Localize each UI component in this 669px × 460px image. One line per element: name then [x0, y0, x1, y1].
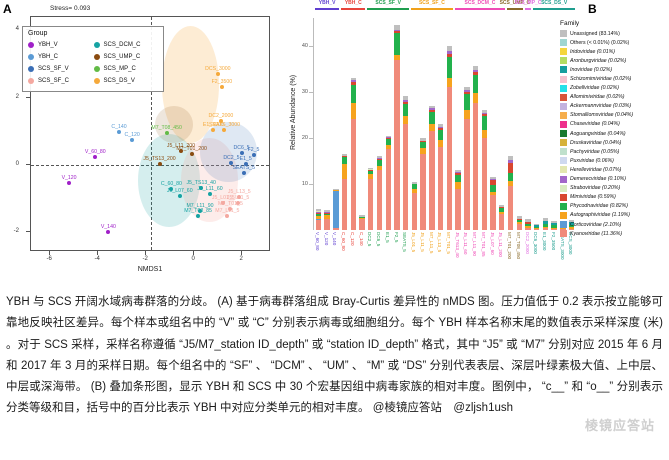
- bar-x-tick-label: F2_5: [394, 232, 399, 242]
- legend-swatch-icon: [560, 48, 567, 55]
- family-legend-item[interactable]: Ackermannviridae (0.03%): [560, 102, 668, 111]
- bar-segment: [490, 185, 495, 192]
- bar-segment: [333, 191, 338, 228]
- bar-x-tick-label: J5_L13_5: [437, 232, 442, 252]
- bar-x-tick-label: DC6_3000: [533, 232, 538, 254]
- panel-b: B Relative Abundance (%) 10203040 YBH_VY…: [292, 0, 669, 285]
- family-legend-label: Demerecviridae (0.10%): [570, 176, 626, 182]
- bar-segment: [429, 124, 434, 131]
- bar-segment: [508, 186, 513, 230]
- bar-x-tick-label: C_120: [350, 232, 355, 246]
- legend-swatch-icon: [560, 166, 567, 173]
- bar-segment: [473, 103, 478, 230]
- panel-b-y-tick: [309, 184, 313, 185]
- bar-segment: [455, 175, 460, 182]
- legend-swatch-icon: [560, 157, 567, 164]
- stacked-bar: [316, 209, 321, 230]
- nmds-point: [225, 214, 229, 218]
- stacked-bar: [499, 205, 504, 230]
- panel-b-y-tick-label: 40: [294, 43, 308, 49]
- stress-value: Stress= 0.093: [50, 5, 90, 12]
- bar-segment: [403, 116, 408, 124]
- family-legend-item[interactable]: Stomalliomsviridae (0.04%): [560, 111, 668, 120]
- panel-b-letter: B: [588, 2, 597, 16]
- bar-segment: [386, 149, 391, 230]
- family-legend-label: Mimiviridae (0.59%): [570, 194, 616, 200]
- legend-swatch-icon: [560, 176, 567, 183]
- legend-item-scs_dcm_c[interactable]: SCS_DCM_C: [94, 39, 160, 51]
- family-legend-item[interactable]: Allomimiviridae (0.02%): [560, 93, 668, 102]
- panel-a-x-tick-label: -6: [47, 256, 52, 262]
- bar-segment: [447, 57, 452, 78]
- panel-a-x-tick: [193, 251, 194, 255]
- stacked-bar: [543, 218, 548, 230]
- family-legend-label: Puxviridae (0.06%): [570, 158, 614, 164]
- bar-segment: [551, 229, 556, 230]
- legend-item-scs_mp_c[interactable]: SCS_MP_C: [94, 63, 160, 75]
- nmds-point: [117, 130, 121, 134]
- bar-segment: [473, 93, 478, 103]
- legend-item-label: SCS_MP_C: [104, 66, 136, 72]
- group-header-label: SCS_SF_C: [419, 0, 445, 6]
- stacked-bar: [359, 215, 364, 230]
- bar-segment: [351, 103, 356, 119]
- legend-swatch-icon: [560, 112, 567, 119]
- stacked-bar: [403, 96, 408, 230]
- nmds-point: [216, 72, 220, 76]
- panel-a-x-tick: [97, 251, 98, 255]
- legend-swatch-icon: [560, 194, 567, 201]
- nmds-point: [222, 128, 226, 132]
- bar-segment: [403, 124, 408, 230]
- stacked-bar: [420, 138, 425, 230]
- nmds-point: [220, 85, 224, 89]
- stacked-bar: [342, 154, 347, 231]
- panel-a-y-tick-label: -2: [0, 228, 19, 234]
- bar-x-tick-label: M7_T08_450: [516, 232, 521, 259]
- legend-item-label: SCS_UMP_C: [104, 54, 141, 60]
- bar-segment: [438, 130, 443, 140]
- stacked-bar: [438, 124, 443, 230]
- bar-segment: [333, 228, 338, 230]
- stacked-bar: [482, 110, 487, 230]
- stacked-bar: [473, 66, 478, 230]
- bar-segment: [368, 179, 373, 230]
- legend-swatch-icon: [560, 203, 567, 210]
- family-legend-item[interactable]: Aronburgviridae (0.02%): [560, 56, 668, 65]
- stacked-bar: [551, 221, 556, 230]
- nmds-point: [252, 153, 256, 157]
- legend-swatch-icon: [560, 57, 567, 64]
- bar-segment: [482, 116, 487, 130]
- group-header-bar: [315, 8, 339, 10]
- nmds-point-label: F2_3500: [212, 79, 232, 85]
- nmds-point-label: C_120: [124, 132, 139, 138]
- family-legend-label: Inoviridae (0.02%): [570, 67, 612, 73]
- family-legend-item[interactable]: Autographiviridae (1.19%): [560, 211, 668, 220]
- nmds-point-label: M7_T08_85: [184, 208, 212, 214]
- bar-x-tick-label: M7_T01_5: [446, 232, 451, 254]
- family-legend-label: Aoguangviridae (0.04%): [570, 131, 626, 137]
- family-legend-label: Schizomimiviridae (0.02%): [570, 76, 631, 82]
- family-legend-label: Stomalliomsviridae (0.04%): [570, 112, 633, 118]
- legend-swatch-icon: [560, 30, 567, 37]
- nmds-point-label: M7_T01_200: [176, 146, 207, 152]
- family-legend-item[interactable]: Kyanoviridae (11.36%): [560, 229, 668, 238]
- nmds-point: [130, 138, 134, 142]
- stacked-bar: [534, 224, 539, 230]
- nmds-point: [106, 230, 110, 234]
- nmds-point-label: M7_T08_450: [151, 125, 182, 131]
- panel-b-y-tick: [309, 92, 313, 93]
- nmds-point-label: E1_5: [240, 156, 252, 162]
- bar-x-tick-label: J5_L01_5: [411, 232, 416, 252]
- nmds-point: [93, 155, 97, 159]
- nmds-point: [67, 181, 71, 185]
- legend-swatch-icon: [560, 148, 567, 155]
- family-legend-label: Druskaviridae (0.04%): [570, 140, 621, 146]
- panel-a-y-tick-label: 2: [0, 94, 19, 100]
- nmds-point: [190, 152, 194, 156]
- group-header-label: YBH_V: [319, 0, 336, 6]
- family-legend-item[interactable]: Chaseviridae (0.04%): [560, 120, 668, 129]
- bar-x-tick-label: V_140: [332, 232, 337, 245]
- bar-x-tick-label: J5_L11_200: [498, 232, 503, 257]
- legend-swatch-icon: [94, 42, 100, 48]
- panel-a-y-tick-label: 0: [0, 161, 19, 167]
- family-legend-item[interactable]: Phycodnaviridae (0.82%): [560, 202, 668, 211]
- bar-x-tick-label: C_60_80: [341, 232, 346, 251]
- bar-segment: [473, 75, 478, 93]
- nmds-point: [158, 162, 162, 166]
- bar-segment: [543, 228, 548, 230]
- stacked-bar: [429, 106, 434, 230]
- family-legend-label: Autographiviridae (1.19%): [570, 212, 630, 218]
- nmds-point-label: F2_5: [248, 147, 260, 153]
- legend-item-ybh_c[interactable]: YBH_C: [28, 51, 94, 63]
- legend-swatch-icon: [560, 103, 567, 110]
- family-legend-item[interactable]: Unassigned (83.14%): [560, 29, 668, 38]
- group-header-label: SCS_SF_V: [375, 0, 401, 6]
- bar-segment: [499, 214, 504, 230]
- family-legend-item[interactable]: Iridoviridae (0.01%): [560, 47, 668, 56]
- legend-swatch-icon: [560, 76, 567, 83]
- group-header-bar: [455, 8, 505, 10]
- bar-segment: [324, 219, 329, 230]
- caption-text: YBH 与 SCS 开阔水域病毒群落的分歧。 (A) 基于病毒群落组成 Bray…: [6, 292, 663, 420]
- bar-segment: [412, 193, 417, 230]
- family-legend-label: Chaseviridae (0.04%): [570, 121, 620, 127]
- legend-swatch-icon: [28, 42, 34, 48]
- stacked-bar: [464, 87, 469, 230]
- family-legend-item[interactable]: Pachyviridae (0.05%): [560, 147, 668, 156]
- bar-segment: [438, 140, 443, 147]
- legend-swatch-icon: [560, 212, 567, 219]
- family-legend-item[interactable]: Demerecviridae (0.10%): [560, 175, 668, 184]
- family-legend-item[interactable]: Aoguangviridae (0.04%): [560, 129, 668, 138]
- legend-item-scs_sf_v[interactable]: SCS_SF_V: [28, 63, 94, 75]
- group-header-label: YBH_C: [345, 0, 362, 6]
- nmds-point-label: M7_T01_5: [218, 201, 243, 207]
- bar-x-tick-label: E1_5: [385, 232, 390, 243]
- group-header-bar: [507, 8, 522, 10]
- nmds-point-label: DC2_5: [223, 155, 239, 161]
- panel-b-y-tick-label: 20: [294, 135, 308, 141]
- bar-segment: [534, 229, 539, 230]
- panel-a-x-tick: [241, 251, 242, 255]
- family-legend-item[interactable]: Others (< 0.01%) (0.02%): [560, 38, 668, 47]
- legend-item-label: YBH_V: [38, 42, 58, 48]
- legend-item-scs_ds_v[interactable]: SCS_DS_V: [94, 75, 160, 87]
- stacked-bar: [508, 156, 513, 230]
- panel-a-x-tick: [145, 251, 146, 255]
- panel-a-letter: A: [3, 2, 12, 16]
- bar-x-tick-label: M7_L11_5: [429, 232, 434, 253]
- bar-segment: [517, 224, 522, 230]
- stacked-bar: [412, 182, 417, 230]
- legend-swatch-icon: [560, 66, 567, 73]
- stacked-bar: [324, 210, 329, 230]
- family-legend-label: Ackermannviridae (0.03%): [570, 103, 631, 109]
- family-legend-label: Straboviridae (0.20%): [570, 185, 620, 191]
- nmds-point-label: J5_L07_60: [167, 188, 193, 194]
- stacked-bar: [517, 216, 522, 230]
- legend-swatch-icon: [28, 54, 34, 60]
- bar-x-tick-label: J5_L07_60: [490, 232, 495, 255]
- legend-item-ybh_v[interactable]: YBH_V: [28, 39, 94, 51]
- family-legend-label: Kyanoviridae (11.36%): [570, 231, 622, 237]
- nmds-point: [178, 194, 182, 198]
- panel-a-legend: Group YBH_VYBH_CSCS_SF_VSCS_SF_C SCS_DCM…: [22, 26, 164, 92]
- bar-x-tick-label: M7_T01_200: [507, 232, 512, 259]
- stacked-bar: [368, 168, 373, 230]
- legend-column-left: YBH_VYBH_CSCS_SF_VSCS_SF_C: [28, 39, 94, 87]
- family-legend-item[interactable]: Schizomimiviridae (0.02%): [560, 74, 668, 83]
- family-legend-label: Pachyviridae (0.05%): [570, 149, 619, 155]
- family-legend-item[interactable]: Straboviridae (0.20%): [560, 184, 668, 193]
- legend-swatch-icon: [560, 130, 567, 137]
- panel-b-y-tick: [309, 138, 313, 139]
- bar-segment: [438, 147, 443, 230]
- family-legend-item[interactable]: Herelleviridae (0.07%): [560, 165, 668, 174]
- stacked-bar: [490, 177, 495, 230]
- nmds-point-label: DCS_3000: [205, 66, 230, 72]
- bar-segment: [464, 110, 469, 119]
- family-legend-label: Iridoviridae (0.01%): [570, 49, 615, 55]
- panel-b-legend: Family Unassigned (83.14%)Others (< 0.01…: [560, 20, 668, 238]
- panel-b-legend-title: Family: [560, 20, 668, 27]
- bar-x-tick-label: M7_T01_85: [481, 232, 486, 257]
- bar-segment: [394, 33, 399, 55]
- nmds-point: [240, 151, 244, 155]
- bar-x-tick-label: DC2_5: [367, 232, 372, 246]
- bar-segment: [342, 179, 347, 230]
- bar-segment: [316, 220, 321, 230]
- panel-b-y-tick: [309, 46, 313, 47]
- family-legend-label: Others (< 0.01%) (0.02%): [570, 40, 629, 46]
- legend-swatch-icon: [560, 185, 567, 192]
- panel-a-x-tick-label: -2: [143, 256, 148, 262]
- nmds-point: [196, 214, 200, 218]
- bar-segment: [482, 138, 487, 230]
- stacked-bar: [455, 170, 460, 230]
- group-header-label: SCS_DCM_C: [465, 0, 496, 6]
- bar-segment: [455, 189, 460, 230]
- legend-swatch-icon: [94, 66, 100, 72]
- bar-segment: [351, 85, 356, 103]
- family-legend-label: Zobellviridae (0.02%): [570, 85, 619, 91]
- nmds-point-label: V_60_80: [85, 149, 106, 155]
- legend-item-label: SCS_DS_V: [104, 78, 135, 84]
- bar-segment: [447, 78, 452, 87]
- legend-swatch-icon: [28, 78, 34, 84]
- bar-segment: [429, 131, 434, 230]
- legend-swatch-icon: [94, 78, 100, 84]
- legend-swatch-icon: [560, 121, 567, 128]
- panel-b-y-tick-label: 30: [294, 89, 308, 95]
- panel-a: A Stress= 0.093 NMDS2 NMDS1 -2024-6-4-20…: [0, 0, 292, 285]
- panel-a-legend-title: Group: [28, 30, 159, 37]
- panel-a-x-tick-label: -4: [95, 256, 100, 262]
- panel-a-x-tick-label: 2: [240, 256, 243, 262]
- family-legend-label: Unassigned (83.14%): [570, 31, 620, 37]
- bar-segment: [351, 119, 356, 230]
- nmds-point-label: J5_TS13_200: [143, 156, 175, 162]
- bar-x-tick-label: V_60_80: [315, 232, 320, 250]
- stacked-bar: [394, 25, 399, 230]
- nmds-point-label: C_60_80: [161, 181, 182, 187]
- legend-column-right: SCS_DCM_CSCS_UMP_CSCS_MP_CSCS_DS_V: [94, 39, 160, 87]
- stacked-bar-chart: [314, 18, 576, 230]
- bar-segment: [508, 163, 513, 173]
- bar-x-tick-label: M7_L11_90: [472, 232, 477, 256]
- bar-segment: [420, 154, 425, 230]
- legend-item-scs_sf_c[interactable]: SCS_SF_C: [28, 75, 94, 87]
- legend-item-scs_ump_c[interactable]: SCS_UMP_C: [94, 51, 160, 63]
- stacked-bar: [447, 46, 452, 230]
- legend-item-label: SCS_DCM_C: [104, 42, 141, 48]
- bar-segment: [464, 94, 469, 110]
- bar-x-tick-label: DC6_5: [376, 232, 381, 246]
- bar-segment: [394, 60, 399, 231]
- group-header-bar: [341, 8, 365, 10]
- family-legend-item[interactable]: Mimiviridae (0.59%): [560, 193, 668, 202]
- bar-segment: [429, 112, 434, 124]
- legend-item-label: SCS_SF_C: [38, 78, 69, 84]
- legend-swatch-icon: [560, 94, 567, 101]
- nmds-point-label: V_140: [101, 224, 116, 230]
- family-legend-label: Corticoviridae (2.10%): [570, 222, 621, 228]
- nmds-point-label: DC2_2000: [209, 113, 234, 119]
- bar-x-tick-label: J5_L11_60: [463, 232, 468, 254]
- bar-x-tick-label: DC2_2000: [525, 232, 530, 254]
- bar-segment: [464, 119, 469, 230]
- legend-swatch-icon: [560, 39, 567, 46]
- figure: A Stress= 0.093 NMDS2 NMDS1 -2024-6-4-20…: [0, 0, 669, 285]
- bar-segment: [447, 87, 452, 230]
- group-header-label: SCS_MP_C: [514, 0, 541, 6]
- bar-segment: [342, 164, 347, 180]
- bar-segment: [482, 130, 487, 138]
- nmds-point: [242, 171, 246, 175]
- legend-item-label: YBH_C: [38, 54, 58, 60]
- stacked-bar: [333, 189, 338, 230]
- stacked-bar: [525, 219, 530, 230]
- nmds-point-label: C_140: [111, 124, 126, 130]
- family-legend-rows: Unassigned (83.14%)Others (< 0.01%) (0.0…: [560, 29, 668, 238]
- group-header-bar: [525, 8, 532, 10]
- panel-a-x-axis-label: NMDS1: [138, 266, 163, 273]
- bar-x-tick-label: F2_3500: [551, 232, 556, 250]
- legend-swatch-icon: [560, 230, 567, 237]
- bar-x-tick-label: E1_3000: [542, 232, 547, 250]
- bar-segment: [359, 219, 364, 230]
- family-legend-item[interactable]: Inoviridae (0.02%): [560, 65, 668, 74]
- group-header-label: SCS_DS_V: [541, 0, 567, 6]
- panel-a-x-tick: [49, 251, 50, 255]
- nmds-point-label: SEATS_3000: [209, 122, 240, 128]
- nmds-point-label: J5_L11_60: [197, 186, 222, 192]
- bar-segment: [490, 195, 495, 230]
- panel-a-x-tick-label: 0: [192, 256, 195, 262]
- group-header-bar: [533, 8, 575, 10]
- figure-caption: YBH 与 SCS 开阔水域病毒群落的分歧。 (A) 基于病毒群落组成 Bray…: [0, 288, 669, 460]
- panel-a-y-tick-label: 4: [0, 26, 19, 32]
- family-legend-label: Aronburgviridae (0.02%): [570, 58, 626, 64]
- family-legend-item[interactable]: Druskaviridae (0.04%): [560, 138, 668, 147]
- family-legend-label: Herelleviridae (0.07%): [570, 167, 621, 173]
- stacked-bar: [351, 78, 356, 230]
- group-header-bar: [411, 8, 453, 10]
- panel-b-y-tick-label: 10: [294, 181, 308, 187]
- bar-x-tick-label: SEATS_5: [402, 232, 407, 252]
- nmds-point-label: V_120: [62, 175, 77, 181]
- family-legend-label: Allomimiviridae (0.02%): [570, 94, 624, 100]
- family-legend-label: Phycodnaviridae (0.82%): [570, 203, 628, 209]
- legend-item-label: SCS_SF_V: [38, 66, 69, 72]
- stacked-bar: [377, 156, 382, 230]
- stacked-bar: [386, 136, 391, 230]
- nmds-point: [165, 131, 169, 135]
- bar-segment: [377, 170, 382, 230]
- legend-swatch-icon: [560, 221, 567, 228]
- bar-x-tick-label: V_120: [324, 232, 329, 245]
- nmds-point-label: SEATS_5: [233, 165, 255, 171]
- legend-swatch-icon: [94, 54, 100, 60]
- legend-swatch-icon: [28, 66, 34, 72]
- family-legend-item[interactable]: Puxviridae (0.06%): [560, 156, 668, 165]
- bar-x-tick-label: C_140: [359, 232, 364, 246]
- legend-swatch-icon: [560, 139, 567, 146]
- group-header-bar: [367, 8, 409, 10]
- family-legend-item[interactable]: Corticoviridae (2.10%): [560, 220, 668, 229]
- bar-x-tick-label: J5_L11_5: [420, 232, 425, 252]
- bar-x-tick-label: J5_T613_40: [455, 232, 460, 258]
- nmds-point-label: M7_L11_5: [215, 208, 239, 214]
- bar-segment: [403, 104, 408, 116]
- bar-segment: [525, 228, 530, 230]
- bar-segment: [508, 173, 513, 180]
- legend-swatch-icon: [560, 85, 567, 92]
- family-legend-item[interactable]: Zobellviridae (0.02%): [560, 84, 668, 93]
